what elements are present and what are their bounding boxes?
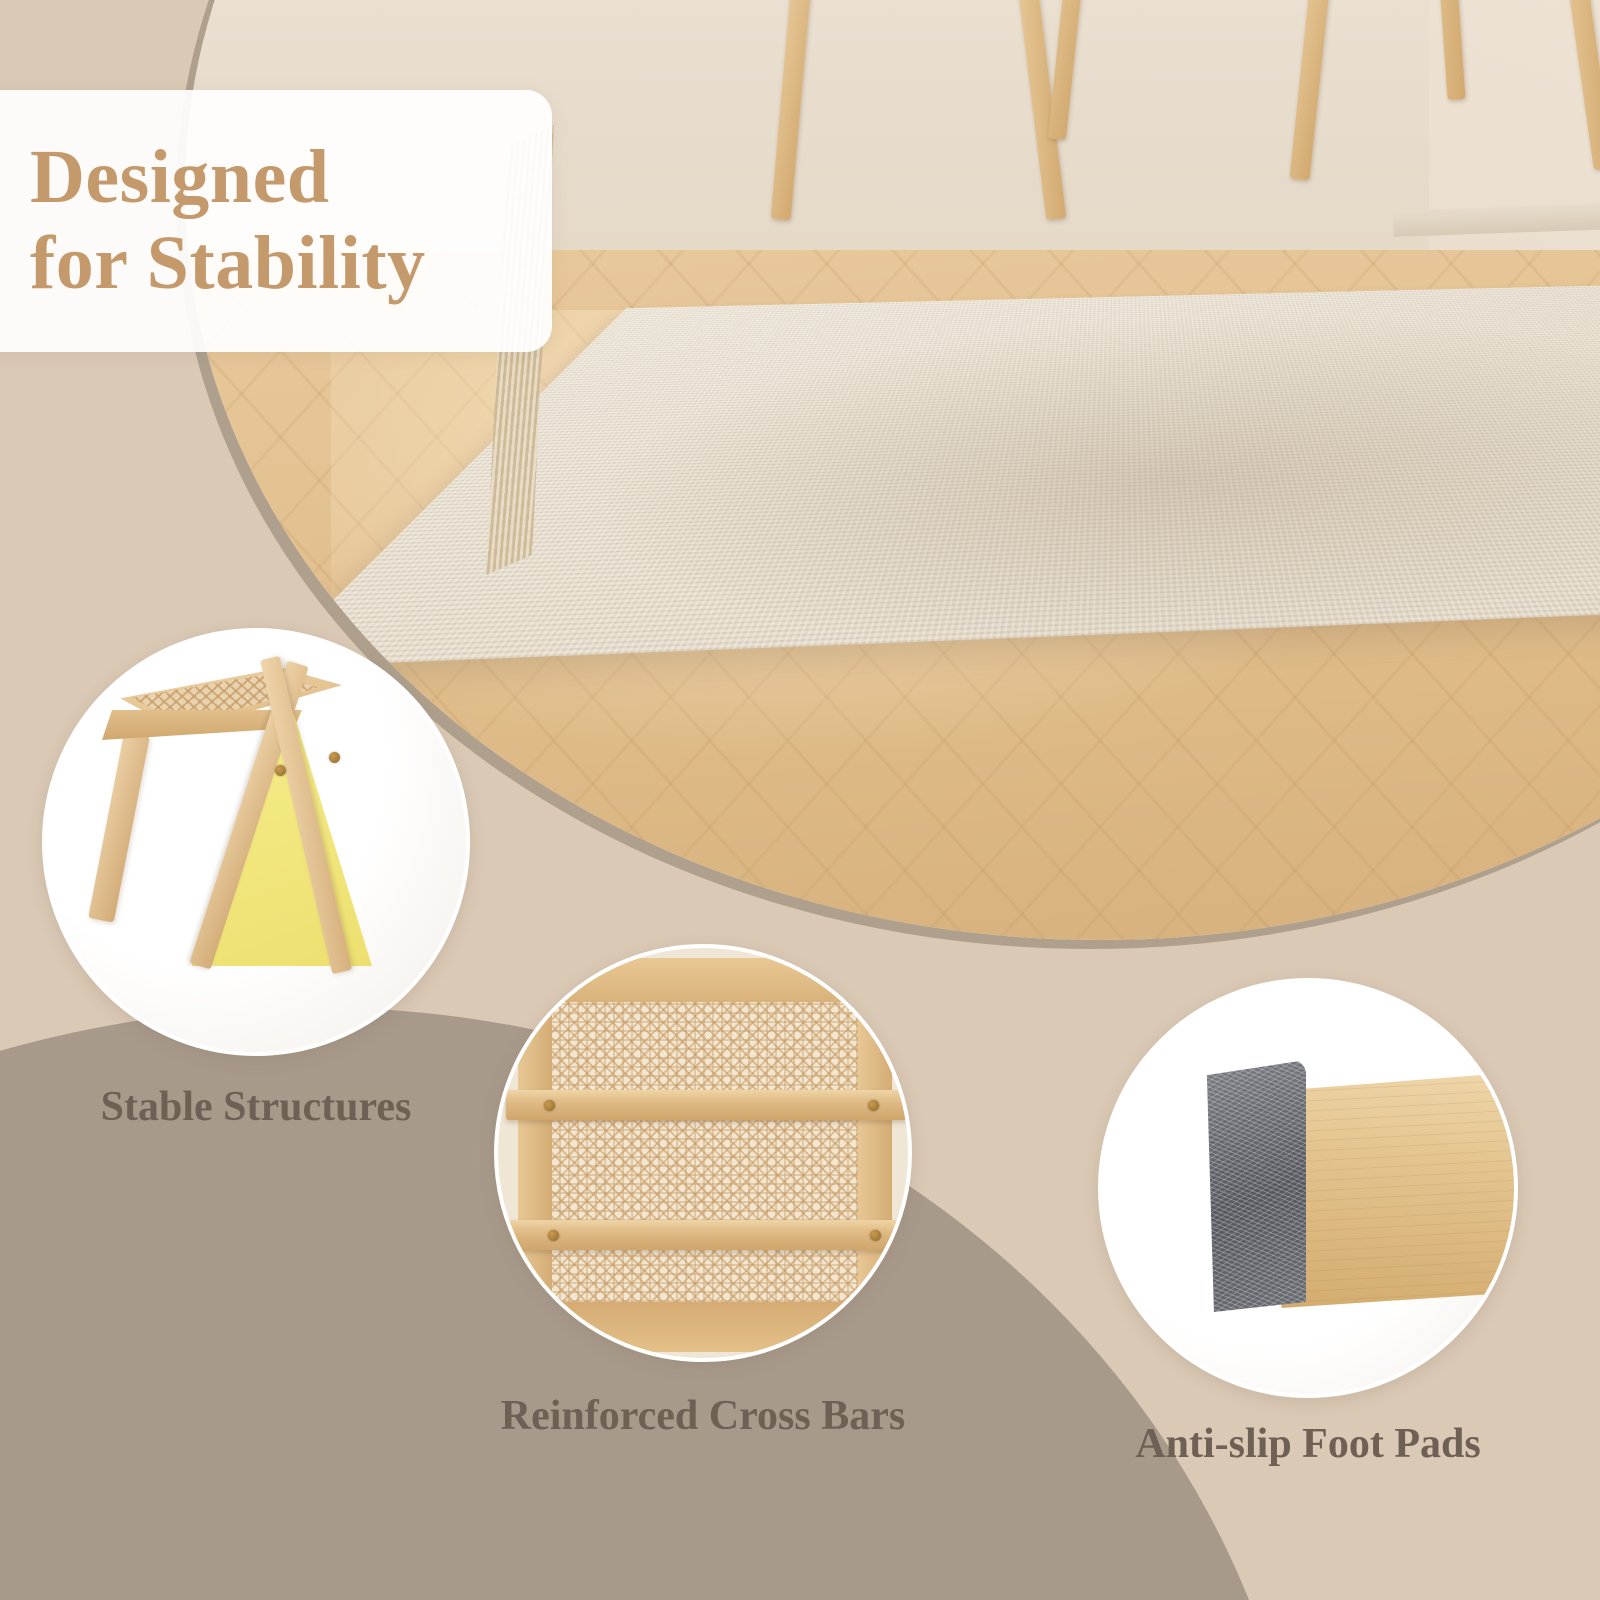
feature-caption-anti-slip-foot-pads: Anti-slip Foot Pads [1098, 1420, 1518, 1468]
cross-bar-upper [506, 1090, 908, 1120]
frame-stile-right [858, 948, 892, 1362]
frame-stile-left [518, 948, 552, 1362]
headline-card: Designed for Stability [0, 90, 552, 352]
headline-line-2: for Stability [30, 221, 552, 307]
screw-icon [548, 1230, 559, 1241]
feature-image-anti-slip-foot-pads [1098, 978, 1518, 1398]
screw-icon [329, 752, 340, 763]
screw-icon [275, 765, 286, 776]
chair-front-leg [88, 731, 150, 922]
screw-icon [870, 1230, 881, 1241]
rug-shadow [597, 290, 1600, 670]
frame-rail-bottom [498, 1302, 912, 1352]
screw-icon [544, 1100, 555, 1111]
cane-weave-texture [532, 976, 884, 1338]
feature-caption-stable-structures: Stable Structures [42, 1083, 470, 1131]
headline-line-1: Designed [30, 135, 552, 221]
feature-image-reinforced-cross-bars [494, 944, 912, 1362]
screw-icon [868, 1100, 879, 1111]
frame-rail-top [498, 958, 912, 1002]
feature-image-stable-structures [42, 628, 470, 1056]
cross-bar-lower [506, 1220, 908, 1250]
feature-caption-reinforced-cross-bars: Reinforced Cross Bars [494, 1392, 912, 1440]
felt-foot-pad [1188, 1060, 1306, 1312]
